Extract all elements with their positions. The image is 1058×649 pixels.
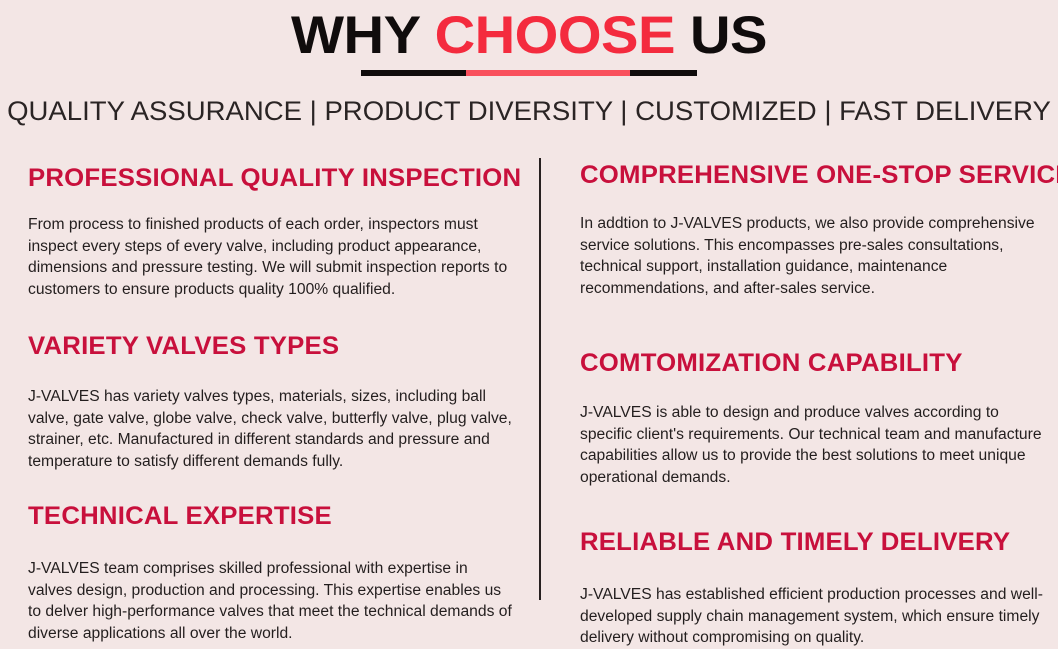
page-header: WHY CHOOSE US QUALITY ASSURANCE | PRODUC…: [0, 0, 1058, 126]
section-heading: TECHNICAL EXPERTISE: [28, 502, 524, 530]
section-comprehensive-one-stop-service: COMPREHENSIVE ONE-STOP SERVICE In addtio…: [580, 161, 1046, 299]
rule-segment-black-left: [361, 70, 466, 76]
section-professional-quality-inspection: PROFESSIONAL QUALITY INSPECTION From pro…: [28, 164, 510, 300]
section-body: J-VALVES has variety valves types, mater…: [28, 386, 515, 472]
section-body: J-VALVES is able to design and produce v…: [580, 402, 1051, 488]
section-heading: VARIETY VALVES TYPES: [28, 332, 524, 360]
rule-segment-red: [466, 70, 630, 76]
title-word-why: WHY: [291, 6, 435, 65]
section-body: J-VALVES team comprises skilled professi…: [28, 558, 515, 644]
section-technical-expertise: TECHNICAL EXPERTISE J-VALVES team compri…: [28, 502, 510, 644]
section-heading: COMPREHENSIVE ONE-STOP SERVICE: [580, 161, 1058, 189]
rule-segment-black-right: [630, 70, 697, 76]
right-column: COMPREHENSIVE ONE-STOP SERVICE In addtio…: [540, 150, 1058, 612]
title-underline-rule: [361, 70, 697, 76]
title-word-us: US: [675, 6, 767, 65]
content-columns: PROFESSIONAL QUALITY INSPECTION From pro…: [0, 150, 1058, 612]
section-body: From process to finished products of eac…: [28, 214, 515, 300]
section-comtomization-capability: COMTOMIZATION CAPABILITY J-VALVES is abl…: [580, 349, 1046, 488]
section-heading: PROFESSIONAL QUALITY INSPECTION: [28, 164, 524, 192]
section-body: In addtion to J-VALVES products, we also…: [580, 213, 1051, 299]
page-title: WHY CHOOSE US: [0, 8, 1058, 64]
section-variety-valves-types: VARIETY VALVES TYPES J-VALVES has variet…: [28, 332, 510, 472]
page-subtitle: QUALITY ASSURANCE | PRODUCT DIVERSITY | …: [0, 96, 1058, 126]
title-word-choose: CHOOSE: [435, 6, 675, 65]
section-heading: RELIABLE AND TIMELY DELIVERY: [580, 528, 1058, 556]
section-reliable-and-timely-delivery: RELIABLE AND TIMELY DELIVERY J-VALVES ha…: [580, 528, 1046, 649]
section-heading: COMTOMIZATION CAPABILITY: [580, 349, 1058, 377]
section-body: J-VALVES has established efficient produ…: [580, 584, 1051, 649]
left-column: PROFESSIONAL QUALITY INSPECTION From pro…: [0, 150, 540, 612]
